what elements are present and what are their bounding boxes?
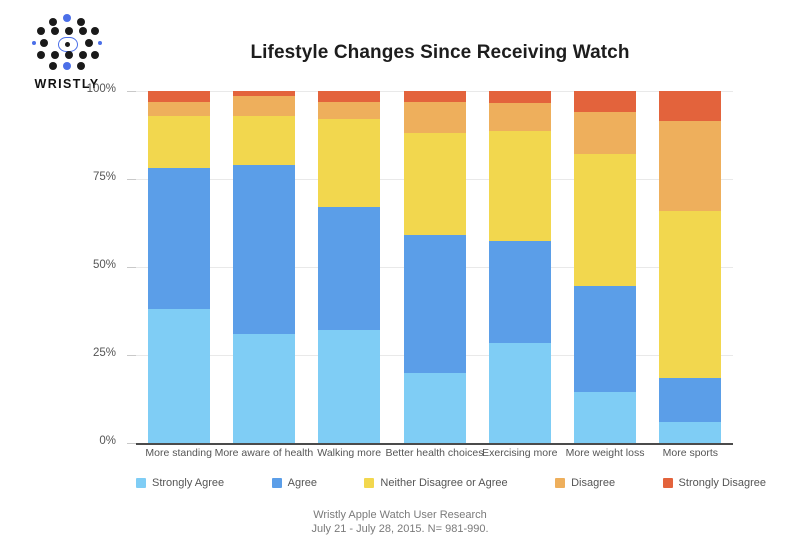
- bar-segment[interactable]: [574, 392, 636, 443]
- bar-segment[interactable]: [318, 119, 380, 207]
- legend-label: Disagree: [571, 477, 615, 489]
- bar-segment[interactable]: [233, 165, 295, 334]
- bar-segment[interactable]: [489, 131, 551, 240]
- bar-segment[interactable]: [659, 211, 721, 378]
- bar-segment[interactable]: [404, 373, 466, 443]
- bar-segment[interactable]: [318, 102, 380, 120]
- plot-area: 0%25%50%75%100% More standingMore aware …: [136, 91, 733, 443]
- bar-stack[interactable]: [489, 91, 551, 443]
- bar-segment[interactable]: [574, 91, 636, 112]
- y-tick-mark: [127, 267, 136, 268]
- bar-segment[interactable]: [148, 309, 210, 443]
- bar-segment[interactable]: [489, 343, 551, 443]
- bar-segment[interactable]: [148, 168, 210, 309]
- bar-segment[interactable]: [233, 116, 295, 165]
- chart-page: WRISTLY Lifestyle Changes Since Receivin…: [0, 0, 800, 552]
- y-tick-label: 0%: [70, 435, 116, 447]
- bar-stack[interactable]: [404, 91, 466, 443]
- bar-segment[interactable]: [404, 91, 466, 102]
- bar-stack[interactable]: [659, 91, 721, 443]
- bar-segment[interactable]: [148, 116, 210, 169]
- footer-line-2: July 21 - July 28, 2015. N= 981-990.: [0, 522, 800, 536]
- legend: Strongly AgreeAgreeNeither Disagree or A…: [136, 477, 766, 489]
- bar-segment[interactable]: [404, 235, 466, 372]
- axis-baseline: [136, 443, 733, 445]
- bar-segment[interactable]: [489, 241, 551, 343]
- bar-segment[interactable]: [489, 91, 551, 103]
- legend-swatch-icon: [663, 478, 673, 488]
- bar-segment[interactable]: [404, 102, 466, 134]
- footer-line-1: Wristly Apple Watch User Research: [0, 508, 800, 522]
- bar-segment[interactable]: [148, 91, 210, 102]
- legend-label: Neither Disagree or Agree: [380, 477, 507, 489]
- bar-segment[interactable]: [318, 330, 380, 443]
- bar-segment[interactable]: [148, 102, 210, 116]
- bar-stack[interactable]: [148, 91, 210, 443]
- legend-item[interactable]: Neither Disagree or Agree: [364, 477, 507, 489]
- bar-segment[interactable]: [318, 91, 380, 102]
- bar-segment[interactable]: [574, 112, 636, 154]
- legend-label: Agree: [288, 477, 317, 489]
- y-tick-mark: [127, 355, 136, 356]
- legend-swatch-icon: [136, 478, 146, 488]
- y-tick-mark: [127, 91, 136, 92]
- legend-item[interactable]: Agree: [272, 477, 317, 489]
- bar-segment[interactable]: [489, 103, 551, 131]
- bar-segment[interactable]: [659, 422, 721, 443]
- bar-stack[interactable]: [318, 91, 380, 443]
- legend-label: Strongly Disagree: [679, 477, 766, 489]
- legend-item[interactable]: Strongly Agree: [136, 477, 224, 489]
- legend-item[interactable]: Strongly Disagree: [663, 477, 766, 489]
- bar-stack[interactable]: [574, 91, 636, 443]
- bar-segment[interactable]: [233, 96, 295, 115]
- y-tick-label: 50%: [70, 259, 116, 271]
- x-tick-label: More sports: [635, 447, 745, 459]
- bar-segment[interactable]: [404, 133, 466, 235]
- bar-segment[interactable]: [659, 121, 721, 211]
- y-tick-label: 25%: [70, 347, 116, 359]
- legend-swatch-icon: [272, 478, 282, 488]
- bar-segment[interactable]: [318, 207, 380, 330]
- footer: Wristly Apple Watch User Research July 2…: [0, 508, 800, 536]
- y-tick-label: 100%: [70, 83, 116, 95]
- y-tick-mark: [127, 179, 136, 180]
- wristly-logo: WRISTLY: [28, 14, 106, 94]
- y-tick-label: 75%: [70, 171, 116, 183]
- bar-segment[interactable]: [233, 334, 295, 443]
- legend-swatch-icon: [364, 478, 374, 488]
- bar-segment[interactable]: [574, 154, 636, 286]
- y-tick-mark: [127, 443, 136, 444]
- bar-segment[interactable]: [659, 378, 721, 422]
- legend-item[interactable]: Disagree: [555, 477, 615, 489]
- bar-segment[interactable]: [659, 91, 721, 121]
- chart-title: Lifestyle Changes Since Receiving Watch: [120, 42, 760, 64]
- bar-segment[interactable]: [233, 91, 295, 96]
- legend-label: Strongly Agree: [152, 477, 224, 489]
- bar-stack[interactable]: [233, 91, 295, 443]
- legend-swatch-icon: [555, 478, 565, 488]
- wristly-eye-logo-icon: [31, 14, 103, 74]
- bar-segment[interactable]: [574, 286, 636, 392]
